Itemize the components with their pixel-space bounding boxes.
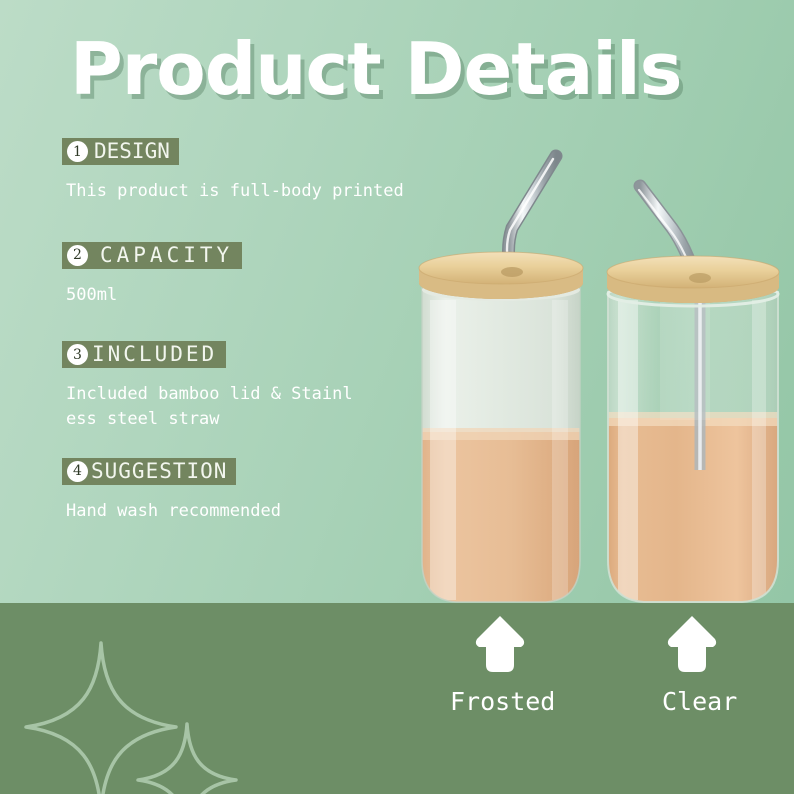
info-item-capacity: 2 CAPACITY 500ml [62, 242, 442, 308]
badge-number-3: 3 [67, 344, 88, 365]
info-text-suggestion: Hand wash recommended [66, 499, 442, 524]
badge-number-1: 1 [67, 141, 88, 162]
page-title: Product Details [70, 33, 682, 105]
badge-design: 1 DESIGN [62, 138, 179, 165]
badge-included: 3 INCLUDED [62, 341, 226, 368]
badge-number-4: 4 [67, 461, 88, 482]
arrow-up-clear-icon [666, 613, 718, 675]
spacer [62, 436, 442, 458]
product-details-poster: Product Details 1 DESIGN This product is… [0, 0, 794, 794]
badge-number-2: 2 [67, 245, 88, 266]
info-text-capacity: 500ml [66, 283, 442, 308]
info-list: 1 DESIGN This product is full-body print… [62, 138, 442, 527]
info-item-included: 3 INCLUDED Included bamboo lid & Stainl … [62, 341, 442, 431]
arrow-up-frosted-icon [474, 613, 526, 675]
spacer [62, 311, 442, 341]
spacer [62, 208, 442, 242]
info-item-design: 1 DESIGN This product is full-body print… [62, 138, 442, 204]
info-text-design: This product is full-body printed [66, 179, 442, 204]
badge-label-suggestion: SUGGESTION [91, 461, 227, 482]
glass-clear [600, 186, 790, 613]
caption-clear: Clear [662, 689, 737, 714]
bottom-band: Frosted Clear [0, 603, 794, 794]
sparkle-decoration [0, 603, 320, 794]
badge-label-capacity: CAPACITY [100, 245, 233, 266]
badge-label-included: INCLUDED [92, 344, 217, 365]
info-item-suggestion: 4 SUGGESTION Hand wash recommended [62, 458, 442, 524]
caption-frosted: Frosted [450, 689, 555, 714]
badge-capacity: 2 CAPACITY [62, 242, 242, 269]
badge-label-design: DESIGN [94, 141, 170, 162]
info-text-included: Included bamboo lid & Stainl ess steel s… [66, 382, 442, 431]
badge-suggestion: 4 SUGGESTION [62, 458, 236, 485]
